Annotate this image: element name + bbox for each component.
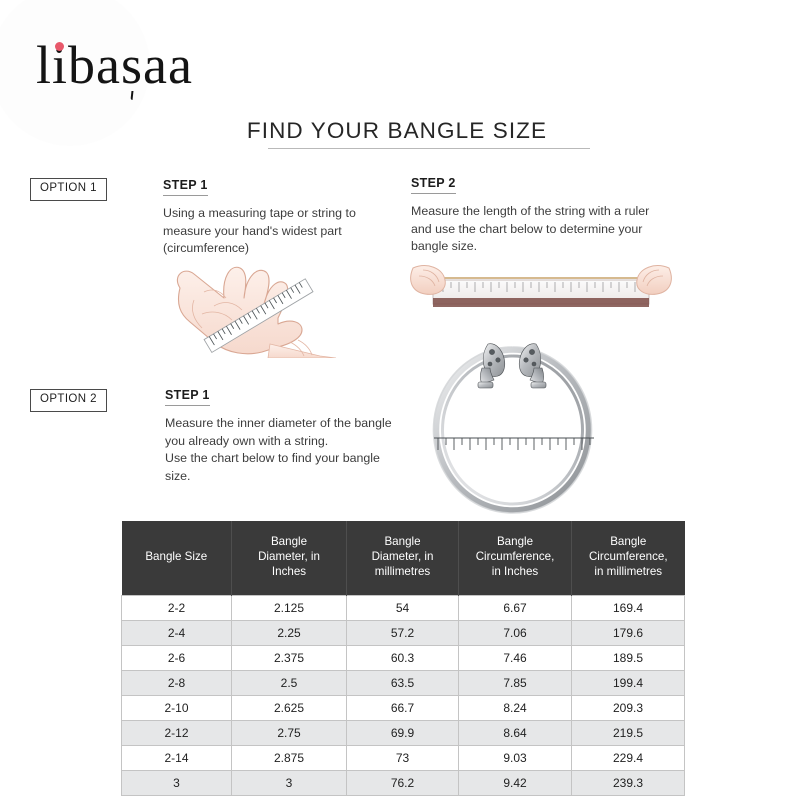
cell-circumference-in: 7.46 xyxy=(459,645,572,670)
table-row: 3 3 76.2 9.42 239.3 xyxy=(122,770,685,795)
table-row: 2-2 2.125 54 6.67 169.4 xyxy=(122,595,685,620)
table-row: 2-10 2.625 66.7 8.24 209.3 xyxy=(122,695,685,720)
column-header-circumference-millimetres: Bangle Circumference, in millimetres xyxy=(572,521,685,595)
table-row: 2-12 2.75 69.9 8.64 219.5 xyxy=(122,720,685,745)
cell-circumference-mm: 169.4 xyxy=(572,595,685,620)
table-row: 2-4 2.25 57.2 7.06 179.6 xyxy=(122,620,685,645)
option-1-step-1: STEP 1 Using a measuring tape or string … xyxy=(163,176,388,258)
cell-diameter-in: 2.75 xyxy=(232,720,347,745)
cell-diameter-mm: 63.5 xyxy=(347,670,459,695)
table-row: 2-6 2.375 60.3 7.46 189.5 xyxy=(122,645,685,670)
cell-diameter-mm: 73 xyxy=(347,745,459,770)
cell-bangle-size: 2-8 xyxy=(122,670,232,695)
logo-letter-s-with-cedilla: s xyxy=(121,38,143,92)
cell-diameter-in: 2.875 xyxy=(232,745,347,770)
cell-bangle-size: 2-6 xyxy=(122,645,232,670)
option-1-step-2-heading: STEP 2 xyxy=(411,176,456,194)
option-2-step-1-body: Measure the inner diameter of the bangle… xyxy=(165,415,415,485)
cell-diameter-mm: 69.9 xyxy=(347,720,459,745)
cell-bangle-size: 2-12 xyxy=(122,720,232,745)
cell-circumference-in: 6.67 xyxy=(459,595,572,620)
page-title: FIND YOUR BANGLE SIZE xyxy=(0,118,794,144)
cell-diameter-mm: 57.2 xyxy=(347,620,459,645)
cell-diameter-in: 2.625 xyxy=(232,695,347,720)
cell-circumference-in: 7.85 xyxy=(459,670,572,695)
cell-circumference-mm: 189.5 xyxy=(572,645,685,670)
hand-with-measuring-tape-illustration xyxy=(150,248,355,358)
cell-diameter-in: 2.375 xyxy=(232,645,347,670)
column-header-diameter-inches: Bangle Diameter, in Inches xyxy=(232,521,347,595)
cell-bangle-size: 3 xyxy=(122,770,232,795)
option-1-step-2: STEP 2 Measure the length of the string … xyxy=(411,174,671,256)
silver-bangle-with-ruler-illustration xyxy=(422,334,602,516)
table-row: 2-14 2.875 73 9.03 229.4 xyxy=(122,745,685,770)
cell-diameter-mm: 76.2 xyxy=(347,770,459,795)
cell-diameter-in: 3 xyxy=(232,770,347,795)
cell-circumference-in: 7.06 xyxy=(459,620,572,645)
logo-letter-i-with-accent-dot: i xyxy=(52,35,68,95)
option-2-step-1-heading: STEP 1 xyxy=(165,388,210,406)
logo-letters-aa: aa xyxy=(143,35,193,95)
option-2-badge: OPTION 2 xyxy=(30,389,107,412)
cell-diameter-in: 2.5 xyxy=(232,670,347,695)
cell-diameter-in: 2.125 xyxy=(232,595,347,620)
cell-bangle-size: 2-2 xyxy=(122,595,232,620)
bangle-size-table: Bangle Size Bangle Diameter, in Inches B… xyxy=(121,521,685,796)
cell-diameter-in: 2.25 xyxy=(232,620,347,645)
cell-circumference-in: 9.03 xyxy=(459,745,572,770)
cell-circumference-in: 9.42 xyxy=(459,770,572,795)
table-body: 2-2 2.125 54 6.67 169.4 2-4 2.25 57.2 7.… xyxy=(122,595,685,795)
cell-circumference-in: 8.64 xyxy=(459,720,572,745)
hands-holding-ruler-illustration xyxy=(405,252,677,324)
column-header-bangle-size: Bangle Size xyxy=(122,521,232,595)
cell-circumference-mm: 179.6 xyxy=(572,620,685,645)
column-header-circumference-inches: Bangle Circumference, in Inches xyxy=(459,521,572,595)
cell-diameter-mm: 60.3 xyxy=(347,645,459,670)
cell-diameter-mm: 66.7 xyxy=(347,695,459,720)
brand-logo: libasaa xyxy=(36,38,193,92)
title-underline-rule xyxy=(268,148,590,149)
option-1-step-1-heading: STEP 1 xyxy=(163,178,208,196)
logo-letters-ba: ba xyxy=(68,35,121,95)
cell-circumference-mm: 199.4 xyxy=(572,670,685,695)
cell-diameter-mm: 54 xyxy=(347,595,459,620)
table-row: 2-8 2.5 63.5 7.85 199.4 xyxy=(122,670,685,695)
column-header-diameter-millimetres: Bangle Diameter, in millimetres xyxy=(347,521,459,595)
cell-circumference-mm: 239.3 xyxy=(572,770,685,795)
cell-bangle-size: 2-14 xyxy=(122,745,232,770)
option-2-step-1: STEP 1 Measure the inner diameter of the… xyxy=(165,386,415,485)
cell-bangle-size: 2-4 xyxy=(122,620,232,645)
cell-circumference-in: 8.24 xyxy=(459,695,572,720)
cell-circumference-mm: 219.5 xyxy=(572,720,685,745)
cell-bangle-size: 2-10 xyxy=(122,695,232,720)
cell-circumference-mm: 229.4 xyxy=(572,745,685,770)
option-1-step-2-body: Measure the length of the string with a … xyxy=(411,203,671,256)
logo-letter-l: l xyxy=(36,35,52,95)
option-1-badge: OPTION 1 xyxy=(30,178,107,201)
table-header-row: Bangle Size Bangle Diameter, in Inches B… xyxy=(122,521,685,595)
cell-circumference-mm: 209.3 xyxy=(572,695,685,720)
